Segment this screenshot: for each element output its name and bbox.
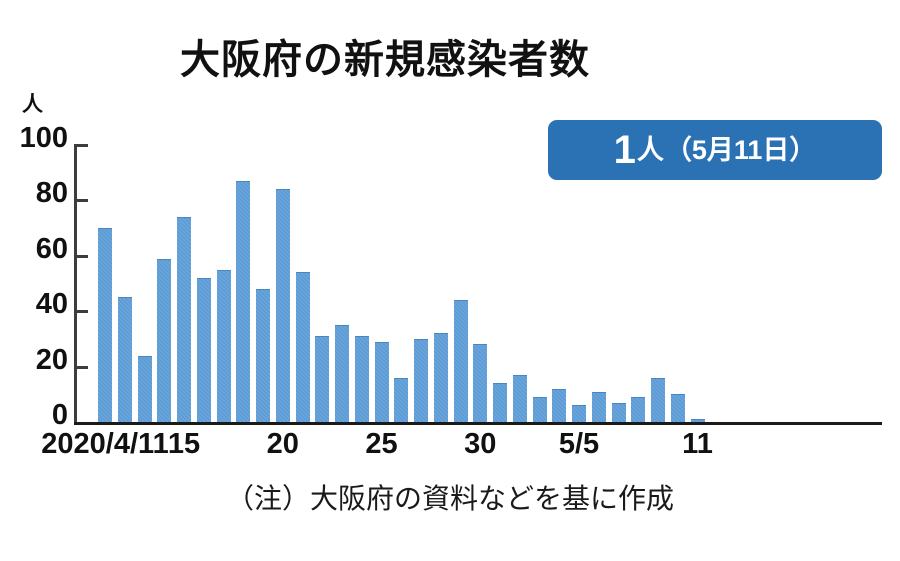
x-axis-tick-label: 30: [464, 430, 496, 459]
x-axis-tick-label: 5/5: [559, 430, 599, 459]
bar: [612, 403, 626, 422]
y-axis-tick-mark: [74, 255, 88, 258]
bar: [572, 405, 586, 422]
x-axis-tick-label: 11: [682, 430, 713, 459]
bar: [454, 300, 468, 422]
bar: [177, 217, 191, 422]
bar: [296, 272, 310, 422]
y-axis-unit-label: 人: [22, 88, 43, 118]
bar: [236, 181, 250, 422]
bar: [138, 356, 152, 422]
bar: [197, 278, 211, 422]
x-axis-tick-label: 25: [365, 430, 397, 459]
bar: [335, 325, 349, 422]
bar: [671, 394, 685, 422]
y-axis-tick-label: 60: [0, 235, 68, 264]
bar: [394, 378, 408, 422]
x-axis-tick-label: 20: [267, 430, 299, 459]
bar: [118, 297, 132, 422]
y-axis-tick-mark: [74, 310, 88, 313]
bar: [691, 419, 705, 422]
bar: [434, 333, 448, 422]
y-axis-tick-label: 40: [0, 290, 68, 319]
x-axis-tick-label: 2020/4/11: [41, 430, 168, 459]
y-axis-tick-mark: [74, 199, 88, 202]
y-axis-tick-mark: [74, 144, 88, 147]
bar: [473, 344, 487, 422]
bar: [513, 375, 527, 422]
chart-footnote: （注）大阪府の資料などを基に作成: [0, 477, 900, 517]
bar: [276, 189, 290, 422]
y-axis-line: [74, 145, 77, 425]
x-axis-tick-label: 15: [168, 430, 200, 459]
y-axis-tick-label: 100: [0, 124, 68, 153]
bar: [315, 336, 329, 422]
bar: [533, 397, 547, 422]
x-axis-line: [74, 422, 882, 425]
bar: [552, 389, 566, 422]
bar: [631, 397, 645, 422]
bar: [592, 392, 606, 422]
bar: [256, 289, 270, 422]
bar: [157, 259, 171, 422]
bar: [98, 228, 112, 422]
bar: [651, 378, 665, 422]
bar: [217, 270, 231, 422]
bar: [493, 383, 507, 422]
bar: [355, 336, 369, 422]
y-axis-tick-mark: [74, 366, 88, 369]
y-axis-tick-label: 20: [0, 346, 68, 375]
y-axis-tick-label: 0: [0, 401, 68, 430]
bar: [414, 339, 428, 422]
chart-page: 大阪府の新規感染者数 1人（5月11日） 人 020406080100 2020…: [0, 0, 900, 561]
y-axis-tick-label: 80: [0, 179, 68, 208]
bar: [375, 342, 389, 422]
